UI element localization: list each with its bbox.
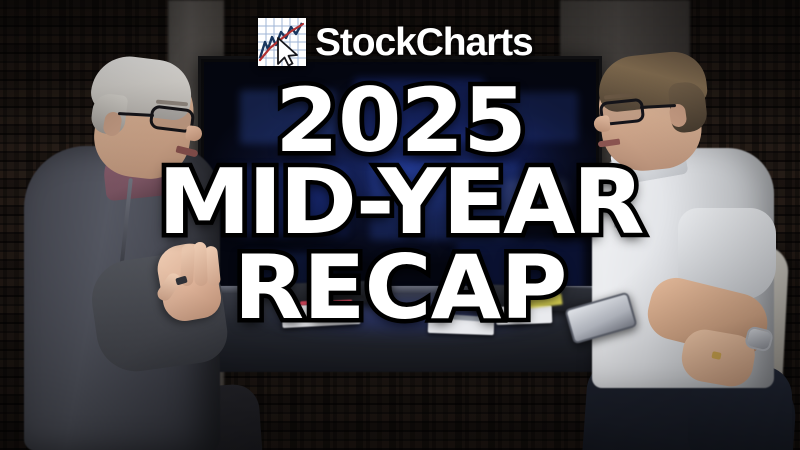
person-left-nose bbox=[185, 125, 203, 142]
video-thumbnail: StockCharts 2025 MID-YEAR RECAP bbox=[0, 0, 800, 450]
brand-logo[interactable]: StockCharts bbox=[258, 18, 533, 66]
studio-scene bbox=[0, 0, 800, 450]
stock-chart-cursor-icon bbox=[258, 18, 306, 66]
paper-sheet-left bbox=[281, 302, 360, 328]
lapel-microphone-icon bbox=[615, 198, 627, 216]
brand-wordmark: StockCharts bbox=[315, 23, 533, 62]
person-right bbox=[560, 48, 800, 450]
person-left-finger-2 bbox=[193, 242, 208, 286]
person-right-nose bbox=[593, 115, 611, 133]
person-left bbox=[0, 60, 270, 450]
